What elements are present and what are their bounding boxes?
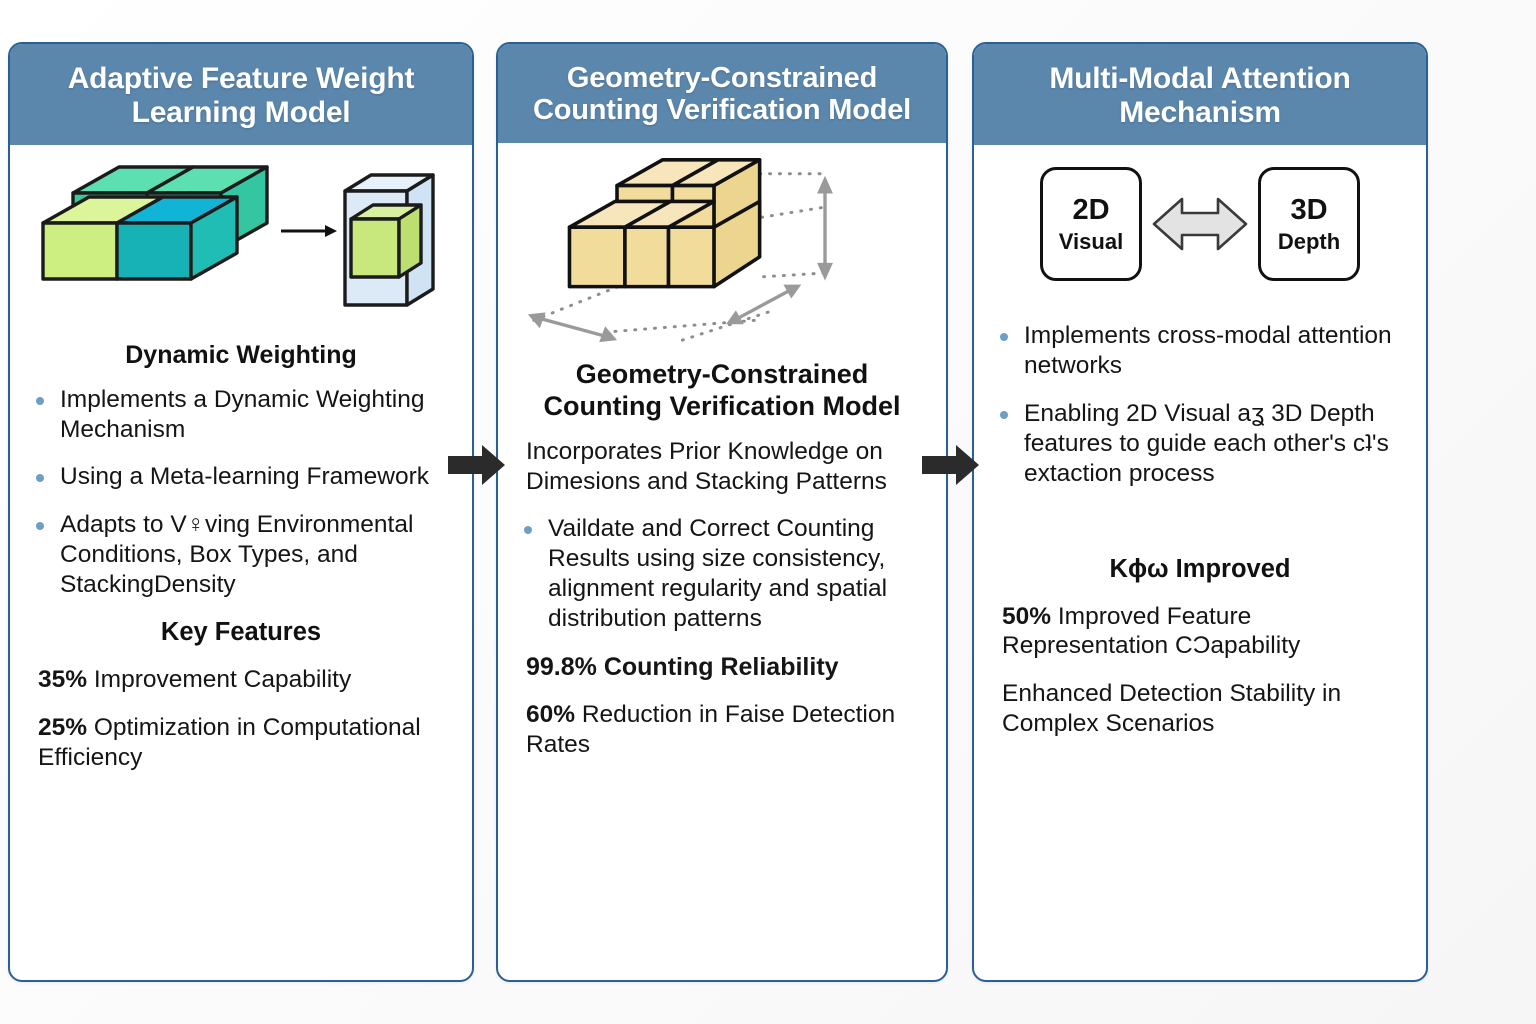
metric-text: Optimization in Computational Efficiency <box>38 714 421 771</box>
dimensioned-carton-stack-graphic <box>514 143 930 353</box>
spacer <box>990 507 1410 553</box>
panel-1-key-features-heading: Key Features <box>26 618 456 647</box>
panel-2-sub-title: Geometry-Constrained Counting Verificati… <box>514 359 930 423</box>
modality-left-top-label: 2D <box>1072 194 1109 227</box>
metric-row: 99.8% Counting Reliability <box>514 652 930 683</box>
stacked-cubes-to-compressed-cube-graphic <box>26 145 456 335</box>
modality-right-top-label: 3D <box>1290 194 1327 227</box>
arrow-panel2-to-panel3 <box>922 444 980 486</box>
metric-value: 35% <box>38 666 87 693</box>
panel-1-sub-title: Dynamic Weighting <box>26 341 456 371</box>
panel-3-bullet-list: Implements cross-modal attention network… <box>990 321 1410 488</box>
metric-value: 60% <box>526 701 575 728</box>
bullet-item: Enabling 2D Visual aʓ 3D Depth features … <box>990 399 1410 489</box>
double-headed-arrow-icon <box>1148 185 1252 263</box>
metric-value: 99.8% <box>526 653 597 681</box>
bullet-item: Adapts to V♀ving Environmental Condition… <box>26 510 456 600</box>
arrow-panel1-to-panel2 <box>448 444 506 486</box>
spacer <box>990 291 1410 321</box>
modality-box-3d-depth: 3D Depth <box>1258 167 1360 281</box>
panel-1-header: Adaptive Feature Weight Learning Model <box>10 44 472 145</box>
panel-geometry-constrained-counting-verification-model: Geometry-Constrained Counting Verificati… <box>496 42 948 982</box>
modality-right-bottom-label: Depth <box>1278 229 1340 255</box>
depth-dimension-arrow <box>726 285 801 325</box>
panel-2-body: Geometry-Constrained Counting Verificati… <box>498 143 946 760</box>
modality-box-2d-visual: 2D Visual <box>1040 167 1142 281</box>
bullet-item: Incorporates Prior Knowledge on Dimesion… <box>514 437 930 497</box>
panel-multi-modal-attention-mechanism: Multi-Modal Attention Mechanism 2D Visua… <box>972 42 1428 982</box>
bullet-item: Vaildate and Correct Counting Results us… <box>514 514 930 634</box>
transform-arrow-icon <box>281 225 337 237</box>
two-modality-boxes-graphic: 2D Visual 3D Depth <box>990 167 1410 281</box>
carton-stack-illustration <box>514 145 930 350</box>
panel-3-key-improved-heading: Kϕω Improved <box>990 555 1410 584</box>
metric-row: Enhanced Detection Stability in Complex … <box>990 679 1410 739</box>
cube-transform-illustration <box>41 145 441 335</box>
metric-row: 35% Improvement Capability <box>26 665 456 695</box>
panel-1-bullet-list: Implements a Dynamic Weighting Mechanism… <box>26 385 456 600</box>
metric-text: Improvement Capability <box>87 666 351 693</box>
bullet-item: Using a Meta-learning Framework <box>26 462 456 492</box>
diagram-canvas: Adaptive Feature Weight Learning Model <box>0 0 1536 1024</box>
height-dimension-arrow <box>817 176 833 281</box>
metric-row: 50% Improved Feature Representation CƆap… <box>990 602 1410 662</box>
metric-row: 25% Optimization in Computational Effici… <box>26 713 456 773</box>
bullet-item: Implements a Dynamic Weighting Mechanism <box>26 385 456 445</box>
panel-1-body: Dynamic Weighting Implements a Dynamic W… <box>10 145 472 772</box>
metric-value: 50% <box>1002 603 1051 630</box>
width-dimension-arrow <box>528 313 617 343</box>
metric-text: Enhanced Detection Stability in Complex … <box>1002 680 1341 737</box>
panel-2-bullet-list: Incorporates Prior Knowledge on Dimesion… <box>514 437 930 634</box>
panel-3-header: Multi-Modal Attention Mechanism <box>974 44 1426 145</box>
metric-text: Reduction in Faise Detection Rates <box>526 701 895 758</box>
panel-adaptive-feature-weight-learning-model: Adaptive Feature Weight Learning Model <box>8 42 474 982</box>
panel-3-body: 2D Visual 3D Depth Implements cross-moda… <box>974 167 1426 739</box>
bullet-item: Implements cross-modal attention network… <box>990 321 1410 381</box>
metric-text: Counting Reliability <box>597 653 839 681</box>
modality-left-bottom-label: Visual <box>1059 229 1123 255</box>
panel-2-header: Geometry-Constrained Counting Verificati… <box>498 44 946 143</box>
metric-row: 60% Reduction in Faise Detection Rates <box>514 700 930 760</box>
metric-value: 25% <box>38 714 87 741</box>
